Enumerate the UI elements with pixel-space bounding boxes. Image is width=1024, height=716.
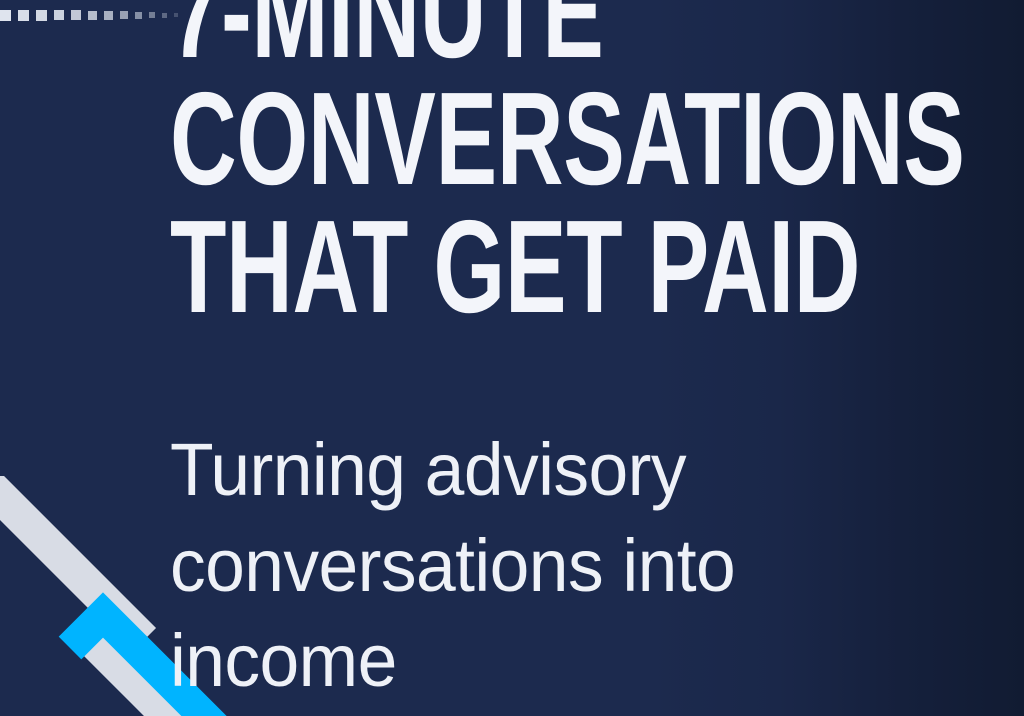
gray-chart-line	[0, 476, 185, 716]
headline-line-2: CONVERSATIONS	[170, 75, 723, 202]
poster-slide: 7-MINUTE CONVERSATIONS THAT GET PAID Tur…	[0, 0, 1024, 716]
dot-marker	[0, 10, 11, 21]
text-block: 7-MINUTE CONVERSATIONS THAT GET PAID Tur…	[170, 0, 960, 708]
headline-line-1: 7-MINUTE	[170, 0, 723, 75]
dot-marker	[18, 10, 29, 21]
dot-marker	[149, 12, 155, 18]
subtitle-line-1: Turning advisory	[170, 422, 932, 517]
dot-marker	[120, 11, 128, 19]
subtitle-line-2: conversations into	[170, 518, 932, 613]
headline-line-3: THAT GET PAID	[170, 203, 723, 330]
dot-marker	[36, 10, 47, 21]
dot-marker	[88, 11, 97, 20]
dot-marker	[162, 13, 167, 18]
dot-marker	[104, 11, 113, 20]
subtitle-line-3: income	[170, 613, 932, 708]
dot-marker	[54, 10, 64, 20]
dot-marker	[71, 10, 81, 20]
page-subtitle: Turning advisory conversations into inco…	[170, 330, 932, 708]
page-title: 7-MINUTE CONVERSATIONS THAT GET PAID	[170, 0, 723, 330]
dot-marker	[135, 12, 142, 19]
